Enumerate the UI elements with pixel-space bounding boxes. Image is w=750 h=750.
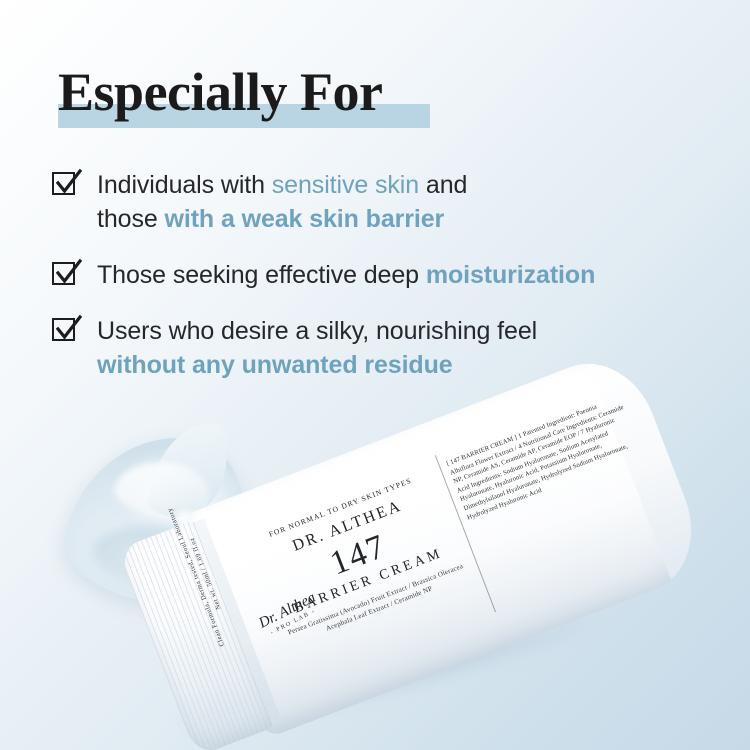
list-item-text: Individuals with sensitive skin and thos… xyxy=(97,168,467,236)
text-segment: those xyxy=(97,205,165,233)
list-item-text: Those seeking effective deep moisturizat… xyxy=(97,258,595,292)
text-segment: and xyxy=(419,171,467,199)
text-segment: Users who desire a silky, nourishing fee… xyxy=(97,317,537,345)
checkbox-checked-icon xyxy=(52,318,79,345)
checkbox-checked-icon xyxy=(52,172,79,199)
text-segment-accent: with a weak skin barrier xyxy=(165,205,445,233)
text-segment: Those seeking effective deep xyxy=(97,261,426,289)
text-segment-accent: without any unwanted residue xyxy=(97,351,453,379)
list-item: Individuals with sensitive skin and thos… xyxy=(52,168,712,236)
checkbox-checked-icon xyxy=(52,262,79,289)
list-item-text: Users who desire a silky, nourishing fee… xyxy=(97,314,537,382)
page-title: Especially For xyxy=(58,62,382,122)
page-title-block: Especially For xyxy=(58,62,382,122)
promo-graphic: Especially For Individuals with sensitiv… xyxy=(0,0,750,750)
list-item: Those seeking effective deep moisturizat… xyxy=(52,258,712,292)
text-segment-accent: sensitive skin xyxy=(272,171,419,199)
text-segment: Individuals with xyxy=(97,171,272,199)
text-segment-accent: moisturization xyxy=(426,261,595,289)
